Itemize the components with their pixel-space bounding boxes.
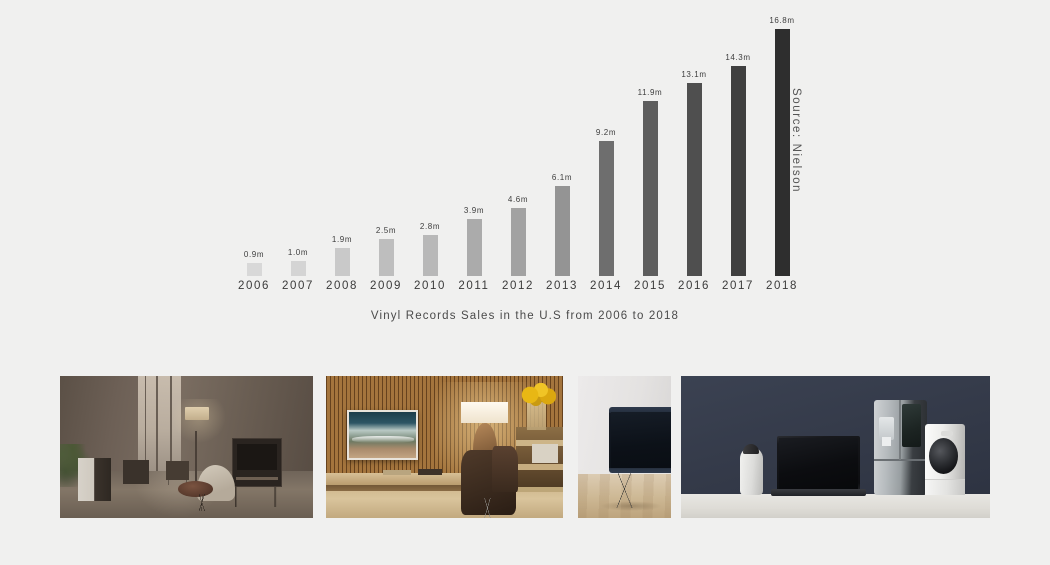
bar-value-label-2007: 1.0m xyxy=(288,249,308,257)
x-tick-2016: 2016 xyxy=(672,278,716,294)
table-lamp-shade xyxy=(461,402,508,423)
air-purifier xyxy=(740,447,763,495)
photo-dim-living-room xyxy=(60,376,313,518)
x-tick-2011: 2011 xyxy=(452,278,496,294)
shelf-books xyxy=(532,444,558,462)
bar-value-label-2011: 3.9m xyxy=(464,207,484,215)
bar-2014[interactable] xyxy=(599,141,614,276)
chair-legs xyxy=(174,494,230,511)
bar-column-2010[interactable]: 2.8m xyxy=(408,8,452,276)
oled-tv-screen xyxy=(779,438,859,489)
tv-cabinet-legs xyxy=(232,487,280,507)
ledge-magazines xyxy=(383,470,411,475)
bar-2010[interactable] xyxy=(423,235,438,276)
framed-tv xyxy=(347,410,418,460)
chart-title: Vinyl Records Sales in the U.S from 2006… xyxy=(0,310,1050,322)
gallery-item-wood-slat-wall-framed-tv[interactable] xyxy=(326,376,563,518)
bar-value-label-2009: 2.5m xyxy=(376,227,396,235)
dark-cabinet xyxy=(123,460,148,484)
shelf-board xyxy=(516,487,563,493)
x-axis-labels: 2006200720082009201020112012201320142015… xyxy=(232,278,804,294)
shelf-board xyxy=(516,464,563,470)
bar-column-2007[interactable]: 1.0m xyxy=(276,8,320,276)
chair-legs xyxy=(459,498,516,518)
gallery-item-appliance-lineup[interactable] xyxy=(681,376,990,518)
bar-2007[interactable] xyxy=(291,261,306,276)
bar-column-2009[interactable]: 2.5m xyxy=(364,8,408,276)
gallery-item-dim-living-room[interactable] xyxy=(60,376,313,518)
tv-screen xyxy=(611,412,671,469)
bar-2012[interactable] xyxy=(511,208,526,276)
x-tick-2008: 2008 xyxy=(320,278,364,294)
oled-tv-base xyxy=(771,489,867,496)
bar-2008[interactable] xyxy=(335,248,350,276)
bar-value-label-2015: 11.9m xyxy=(638,89,663,97)
tv-screen xyxy=(237,444,277,470)
bar-2011[interactable] xyxy=(467,219,482,276)
bar-value-label-2016: 13.1m xyxy=(681,71,706,79)
bar-column-2014[interactable]: 9.2m xyxy=(584,8,628,276)
x-tick-2007: 2007 xyxy=(276,278,320,294)
x-tick-2006: 2006 xyxy=(232,278,276,294)
studio-floor xyxy=(681,494,990,518)
bar-2006[interactable] xyxy=(247,263,262,276)
photo-appliance-lineup xyxy=(681,376,990,518)
floor-lamp-shade xyxy=(185,407,209,420)
bar-value-label-2018: 16.8m xyxy=(769,17,794,25)
bar-value-label-2010: 2.8m xyxy=(420,223,440,231)
refrigerator-glass-panel xyxy=(902,404,921,447)
x-tick-2009: 2009 xyxy=(364,278,408,294)
refrigerator-door-seam xyxy=(899,400,901,460)
window-mullion xyxy=(156,376,158,473)
x-tick-2014: 2014 xyxy=(584,278,628,294)
bar-column-2015[interactable]: 11.9m xyxy=(628,8,672,276)
bar-value-label-2012: 4.6m xyxy=(508,196,528,204)
washer-door xyxy=(929,438,958,474)
sunflowers xyxy=(520,383,556,406)
bar-value-label-2013: 6.1m xyxy=(552,174,572,182)
photo-wood-slat-wall-framed-tv xyxy=(326,376,563,518)
bar-2017[interactable] xyxy=(731,66,746,276)
bar-column-2012[interactable]: 4.6m xyxy=(496,8,540,276)
seascape-artwork xyxy=(349,412,416,458)
bar-2018[interactable] xyxy=(775,29,790,276)
water-dispenser xyxy=(882,437,891,446)
artwork-wave-foam xyxy=(352,436,414,443)
washer-pedestal xyxy=(925,479,965,496)
white-cabinet xyxy=(78,458,111,501)
bar-value-label-2014: 9.2m xyxy=(596,129,616,137)
image-gallery xyxy=(0,376,1050,518)
washer-control-panel xyxy=(941,431,953,435)
x-tick-2010: 2010 xyxy=(408,278,452,294)
bar-column-2011[interactable]: 3.9m xyxy=(452,8,496,276)
bar-2009[interactable] xyxy=(379,239,394,276)
bar-column-2006[interactable]: 0.9m xyxy=(232,8,276,276)
chart-source-note: Source: Nielson xyxy=(790,88,802,193)
sideboard xyxy=(166,461,189,479)
tv-cabinet xyxy=(232,438,282,487)
cabinet-shelf xyxy=(236,477,278,480)
x-tick-2013: 2013 xyxy=(540,278,584,294)
bar-value-label-2008: 1.9m xyxy=(332,236,352,244)
bar-column-2017[interactable]: 14.3m xyxy=(716,8,760,276)
bar-2015[interactable] xyxy=(643,101,658,276)
photo-navy-serif-tv xyxy=(578,376,671,518)
bar-column-2016[interactable]: 13.1m xyxy=(672,8,716,276)
bar-2016[interactable] xyxy=(687,83,702,276)
bar-column-2013[interactable]: 6.1m xyxy=(540,8,584,276)
tv-legs xyxy=(606,470,643,508)
bar-chart-plot: 0.9m1.0m1.9m2.5m2.8m3.9m4.6m6.1m9.2m11.9… xyxy=(232,8,804,276)
floor-lamp-pole xyxy=(195,431,197,488)
chair-backrest xyxy=(492,446,518,493)
bar-value-label-2017: 14.3m xyxy=(725,54,750,62)
bar-2013[interactable] xyxy=(555,186,570,276)
bar-value-label-2006: 0.9m xyxy=(244,251,264,259)
x-tick-2012: 2012 xyxy=(496,278,540,294)
lamp-glow xyxy=(171,399,227,444)
x-tick-2017: 2017 xyxy=(716,278,760,294)
chart-section: 0.9m1.0m1.9m2.5m2.8m3.9m4.6m6.1m9.2m11.9… xyxy=(0,0,1050,340)
x-tick-2015: 2015 xyxy=(628,278,672,294)
x-tick-2018: 2018 xyxy=(760,278,804,294)
window-mullion xyxy=(145,376,147,473)
gallery-item-navy-serif-tv[interactable] xyxy=(578,376,671,518)
bar-column-2008[interactable]: 1.9m xyxy=(320,8,364,276)
ledge-books xyxy=(418,469,442,475)
